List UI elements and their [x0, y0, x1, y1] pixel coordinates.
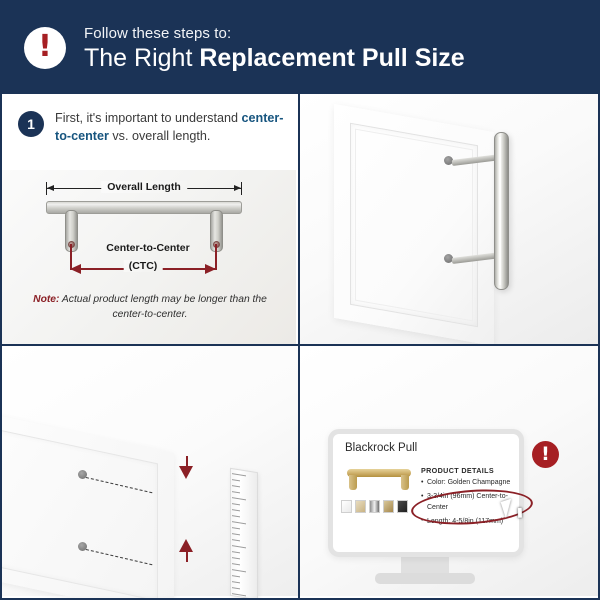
measure-arrow-stem-bottom — [186, 550, 189, 562]
ruler-tick — [232, 569, 246, 572]
cabinet-door-face — [334, 104, 494, 346]
cabinet-door-inner-panel-3 — [2, 428, 158, 598]
monitor-screen: Blackrock Pull PRODUCT DETAILS — [328, 429, 524, 557]
panel-1-note: Note: Actual product length may be longe… — [28, 292, 272, 323]
cabinet-door-face-3 — [2, 411, 174, 598]
monitor-neck — [401, 557, 449, 573]
header-banner: ! Follow these steps to: The Right Repla… — [2, 2, 598, 94]
note-text: Actual product length may be longer than… — [59, 294, 266, 320]
step-number-badge-1: 1 — [18, 111, 44, 137]
pull-measurement-diagram: Overall Length Center-to-Center (CTC) No… — [2, 170, 296, 344]
ruler-tick — [232, 527, 240, 529]
ruler-tick — [232, 521, 246, 524]
swatch-4[interactable] — [383, 500, 394, 513]
overall-length-label: Overall Length — [101, 181, 187, 193]
swatch-5[interactable] — [397, 500, 408, 513]
headline-bold: Replacement Pull Size — [199, 44, 464, 72]
ruler-tick — [232, 497, 246, 500]
page-title: The Right Replacement Pull Size — [84, 45, 465, 71]
ruler-tick — [232, 545, 246, 548]
ruler-tick — [232, 575, 240, 577]
step-panel-2: 2 If you are replacing a pull, start by … — [300, 94, 598, 346]
swatch-3[interactable] — [369, 500, 380, 513]
step-1-text-before: First, it's important to understand — [55, 111, 242, 125]
cabinet-door-inner-panel-2 — [355, 129, 473, 322]
ruler-tick — [232, 515, 240, 517]
cabinet-door-illustration — [300, 94, 598, 344]
ruler-tick — [232, 473, 246, 476]
ruler-tick — [232, 557, 240, 559]
pull-post-left — [65, 210, 78, 252]
ruler-tick — [232, 593, 246, 596]
ruler-tick — [232, 503, 240, 505]
ruler-tick — [232, 533, 240, 535]
ctc-arrow-right-icon — [205, 264, 216, 274]
infographic-poster: ! Follow these steps to: The Right Repla… — [0, 0, 600, 600]
ruler-tick — [232, 563, 240, 565]
swatch-1[interactable] — [341, 500, 352, 513]
step-1-text-after: vs. overall length. — [109, 129, 211, 143]
step-1-copy: First, it's important to understand cent… — [55, 110, 284, 146]
ctc-sublabel: (CTC) — [124, 260, 163, 272]
exclamation-circle-icon: ! — [24, 27, 66, 69]
monitor-base — [375, 573, 475, 584]
product-finish-swatches[interactable] — [341, 500, 408, 513]
ruler-tick — [232, 539, 240, 541]
swatch-2[interactable] — [355, 500, 366, 513]
ruler-tick — [232, 479, 240, 481]
ruler-tick — [232, 491, 240, 493]
ctc-dimension: (CTC) — [70, 263, 216, 275]
steps-grid: 1 First, it's important to understand ce… — [2, 94, 598, 598]
exclamation-glyph: ! — [38, 32, 52, 62]
alert-exclamation-glyph: ! — [541, 445, 550, 464]
ruler-tick — [232, 485, 240, 487]
product-title: Blackrock Pull — [345, 442, 417, 454]
headline-light: The Right — [84, 44, 199, 72]
ctc-arrow-left-icon — [70, 264, 81, 274]
overall-length-cap-right — [241, 182, 242, 195]
product-details-heading: PRODUCT DETAILS — [421, 466, 494, 475]
note-label: Note: — [33, 294, 59, 305]
overall-length-arrow-left-icon — [47, 185, 54, 191]
measure-arrow-down-icon — [179, 466, 193, 479]
ruler-tick — [232, 581, 240, 583]
ctc-label: Center-to-Center — [78, 242, 218, 254]
step-1-heading: 1 First, it's important to understand ce… — [2, 94, 298, 146]
cabinet-pull-bar — [494, 132, 509, 290]
step-panel-4: Blackrock Pull PRODUCT DETAILS — [300, 346, 598, 598]
ruler-measure-illustration — [2, 346, 300, 596]
header-kicker: Follow these steps to: — [84, 25, 465, 42]
step-panel-1: 1 First, it's important to understand ce… — [2, 94, 300, 346]
product-detail-item: Color: Golden Champagne — [421, 478, 521, 489]
overall-length-arrow-right-icon — [234, 185, 241, 191]
header-text-block: Follow these steps to: The Right Replace… — [84, 25, 465, 71]
alert-exclamation-icon: ! — [532, 441, 559, 468]
product-page-illustration: Blackrock Pull PRODUCT DETAILS — [300, 346, 598, 596]
ruler-tick — [232, 587, 240, 589]
step-panel-3: 3 Measure the distance between the cente… — [2, 346, 300, 598]
product-pull-leg-left — [349, 475, 357, 490]
overall-length-dimension: Overall Length — [46, 182, 242, 196]
ruler-graphic — [230, 468, 258, 598]
ruler-tick — [232, 551, 240, 553]
product-pull-image — [343, 464, 415, 494]
ruler-tick — [232, 509, 240, 511]
product-pull-leg-right — [401, 475, 409, 490]
